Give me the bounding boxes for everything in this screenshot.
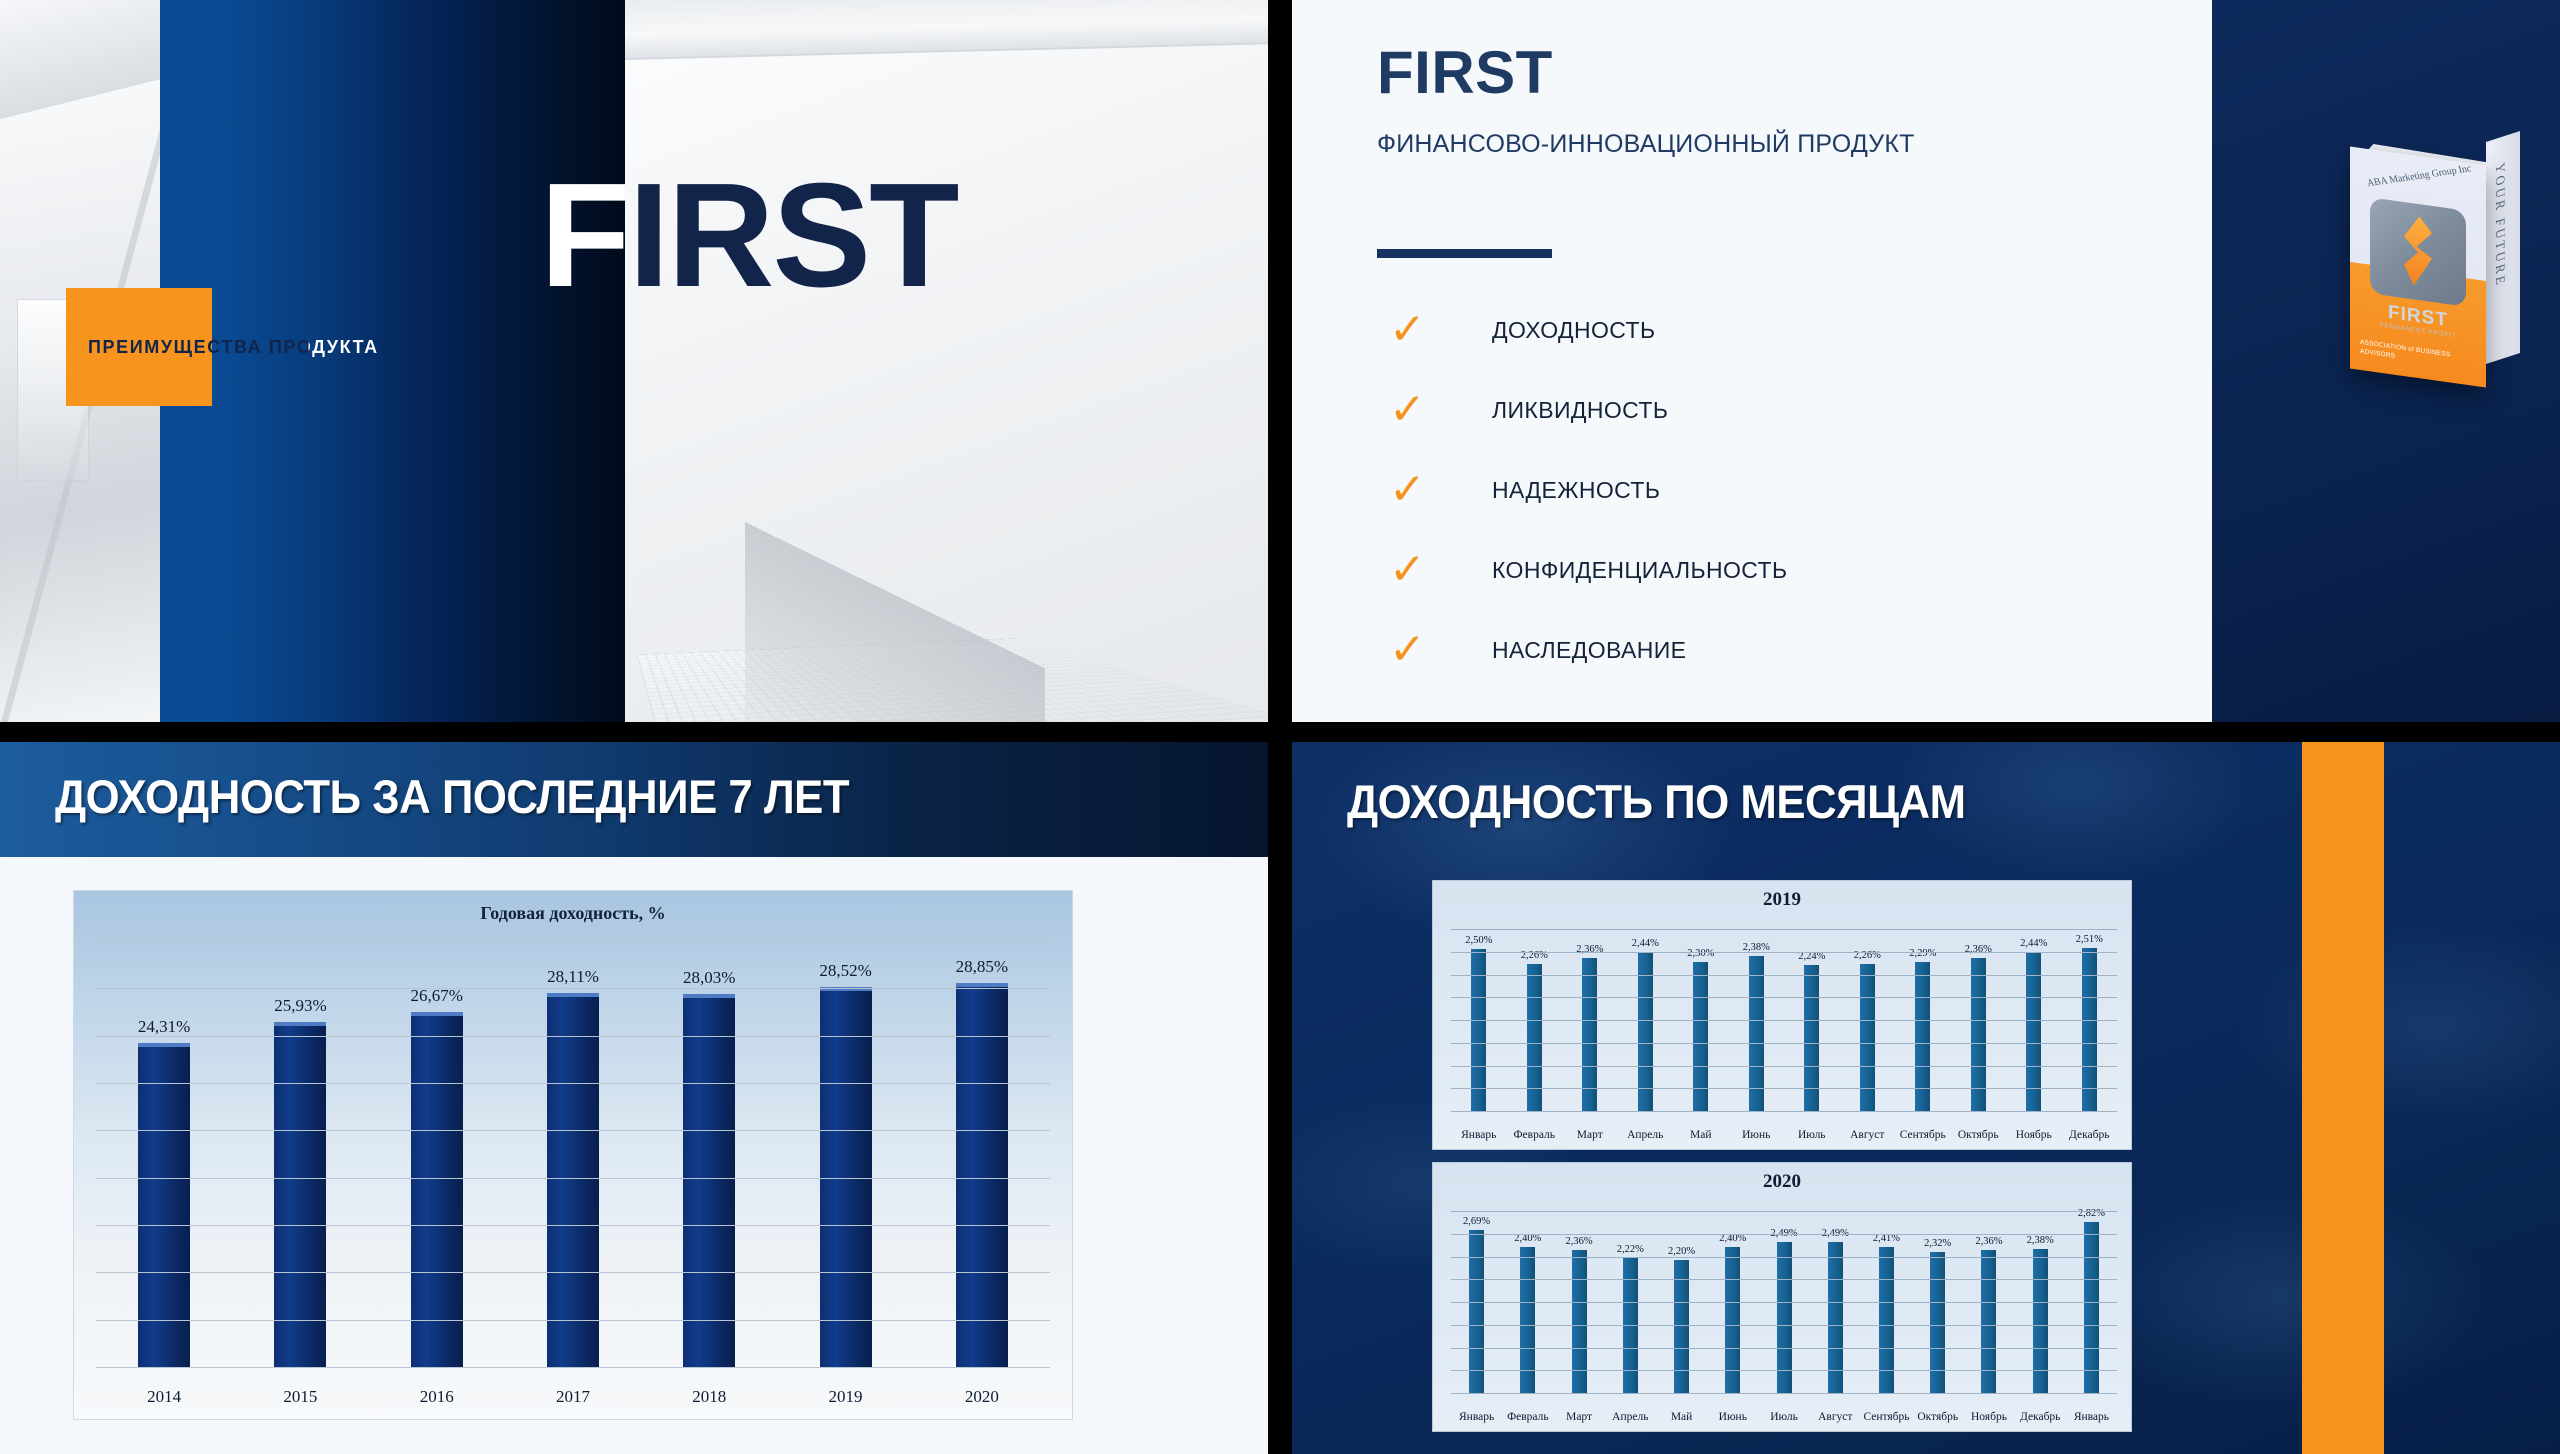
benefit-label: НАСЛЕДОВАНИЕ (1492, 637, 1686, 664)
bar-value-label: 2,24% (1798, 951, 1825, 962)
bar[interactable] (2033, 1249, 2048, 1393)
gridline (96, 1367, 1050, 1368)
bar-slot: 24,31% (96, 941, 232, 1367)
monthly-orange-stripe (2302, 742, 2384, 1454)
x-tick-label: 2020 (914, 1387, 1050, 1407)
x-tick-label: Май (1673, 1129, 1729, 1141)
bar[interactable] (1469, 1230, 1484, 1393)
x-tick-label: Апрель (1605, 1411, 1656, 1423)
gridline (96, 1178, 1050, 1179)
x-tick-label: Август (1810, 1411, 1861, 1423)
list-item: ✓ НАСЛЕДОВАНИЕ (1377, 610, 2137, 690)
gridline (96, 1130, 1050, 1131)
bar[interactable] (683, 994, 735, 1367)
monthly-2020-plot: 2,69%2,40%2,36%2,22%2,20%2,40%2,49%2,49%… (1451, 1211, 2117, 1393)
cover-photo-right (625, 0, 1268, 722)
bar-value-label: 2,40% (1719, 1233, 1746, 1244)
bolt-icon (2404, 214, 2432, 288)
x-tick-label: Февраль (1502, 1411, 1553, 1423)
bar[interactable] (956, 983, 1008, 1367)
bar-value-label: 2,51% (2076, 934, 2103, 945)
x-tick-label: Февраль (1507, 1129, 1563, 1141)
x-tick-label: Ноябрь (2006, 1129, 2062, 1141)
gridline (1451, 1279, 2117, 1280)
monthly-2020-x-axis: ЯнварьФевральМартАпрельМайИюньИюльАвгуст… (1451, 1411, 2117, 1423)
gridline (1451, 1257, 2117, 1258)
monthly-2019-x-axis: ЯнварьФевральМартАпрельМайИюньИюльАвгуст… (1451, 1129, 2117, 1141)
bar[interactable] (2082, 948, 2097, 1111)
list-item: ✓ ДОХОДНОСТЬ (1377, 290, 2137, 370)
monthly-2019-plot: 2,50%2,26%2,36%2,44%2,30%2,38%2,24%2,26%… (1451, 929, 2117, 1111)
gridline (1451, 1066, 2117, 1067)
bar-value-label: 2,36% (1975, 1236, 2002, 1247)
bar[interactable] (1930, 1252, 1945, 1393)
gridline (1451, 1325, 2117, 1326)
bar-value-label: 2,22% (1617, 1244, 1644, 1255)
x-tick-label: Октябрь (1951, 1129, 2007, 1141)
bar-value-label: 24,31% (138, 1017, 190, 1037)
gridline (96, 1272, 1050, 1273)
gridline (1451, 1234, 2117, 1235)
gridline (1451, 975, 2117, 976)
bar[interactable] (138, 1043, 190, 1367)
bar-value-label: 2,36% (1576, 944, 1603, 955)
x-tick-label: Сентябрь (1861, 1411, 1912, 1423)
check-icon: ✓ (1377, 308, 1492, 352)
bar-value-label: 28,52% (819, 961, 871, 981)
annual-chart-title: Годовая доходность, % (74, 891, 1072, 924)
benefits-list: ✓ ДОХОДНОСТЬ ✓ ЛИКВИДНОСТЬ ✓ НАДЕЖНОСТЬ … (1377, 290, 2137, 690)
cover-badge-label: ПРЕИМУЩЕСТВА ПРОДУКТА (88, 337, 508, 358)
x-tick-label: Март (1553, 1411, 1604, 1423)
x-tick-label: Июль (1784, 1129, 1840, 1141)
x-tick-label: Июль (1758, 1411, 1809, 1423)
gridline (1451, 929, 2117, 930)
monthly-2019-title: 2019 (1433, 881, 2131, 911)
gridline (1451, 1211, 2117, 1212)
bar[interactable] (1471, 949, 1486, 1112)
x-tick-label: Май (1656, 1411, 1707, 1423)
annual-x-axis: 2014201520162017201820192020 (96, 1387, 1050, 1407)
bar-value-label: 2,69% (1463, 1216, 1490, 1227)
bar-slot: 28,03% (641, 941, 777, 1367)
x-tick-label: 2018 (641, 1387, 777, 1407)
monthly-2020-title: 2020 (1433, 1163, 2131, 1193)
product-box-side-text: YOUR FUTURE (2492, 161, 2508, 290)
product-box-icon-tile (2370, 197, 2466, 306)
product-box-footer-1: ASSOCIATION of BUSINESS ADVISORS (2360, 338, 2480, 374)
list-item: ✓ КОНФИДЕНЦИАЛЬНОСТЬ (1377, 530, 2137, 610)
annual-plot-area: 24,31%25,93%26,67%28,11%28,03%28,52%28,8… (96, 941, 1050, 1367)
bar[interactable] (411, 1012, 463, 1367)
x-tick-label: 2019 (777, 1387, 913, 1407)
gridline (1451, 1020, 2117, 1021)
gridline (1451, 1111, 2117, 1112)
bar-value-label: 2,30% (1687, 948, 1714, 959)
bar-value-label: 2,44% (1632, 938, 1659, 949)
gridline (1451, 1370, 2117, 1371)
check-icon: ✓ (1377, 628, 1492, 672)
x-tick-label: Сентябрь (1895, 1129, 1951, 1141)
gridline (1451, 997, 2117, 998)
annual-chart-card: Годовая доходность, % 24,31%25,93%26,67%… (73, 890, 1073, 1420)
bar-value-label: 28,03% (683, 968, 735, 988)
cover-floor-strip (745, 522, 1045, 722)
annual-bars: 24,31%25,93%26,67%28,11%28,03%28,52%28,8… (96, 941, 1050, 1367)
overview-title: FIRST (1377, 38, 1553, 107)
bar[interactable] (2026, 952, 2041, 1111)
list-item: ✓ ЛИКВИДНОСТЬ (1377, 370, 2137, 450)
bar-value-label: 28,11% (547, 967, 599, 987)
bar-value-label: 2,40% (1514, 1233, 1541, 1244)
bar[interactable] (2084, 1222, 2099, 1393)
x-tick-label: Апрель (1618, 1129, 1674, 1141)
x-tick-label: Март (1562, 1129, 1618, 1141)
x-tick-label: Декабрь (2062, 1129, 2118, 1141)
x-tick-label: 2016 (369, 1387, 505, 1407)
benefit-label: НАДЕЖНОСТЬ (1492, 477, 1660, 504)
x-tick-label: Июнь (1707, 1411, 1758, 1423)
bar[interactable] (1638, 952, 1653, 1111)
x-tick-label: 2017 (505, 1387, 641, 1407)
bar-value-label: 25,93% (274, 996, 326, 1016)
slide-product-advantages-cover: ПРЕИМУЩЕСТВА ПРОДУКТА FIRST (0, 0, 1268, 722)
cover-hero-word: FIRST (540, 162, 958, 310)
gridline (1451, 1393, 2117, 1394)
bar[interactable] (274, 1022, 326, 1367)
bar[interactable] (547, 993, 599, 1367)
bar-value-label: 2,38% (2027, 1235, 2054, 1246)
check-icon: ✓ (1377, 388, 1492, 432)
bar-slot: 28,52% (777, 941, 913, 1367)
slide-deck: ПРЕИМУЩЕСТВА ПРОДУКТА FIRST FIRST ФИНАНС… (0, 0, 2560, 1454)
annual-title: ДОХОДНОСТЬ ЗА ПОСЛЕДНИЕ 7 ЛЕТ (55, 769, 849, 824)
bar-value-label: 2,29% (1909, 948, 1936, 959)
overview-divider (1377, 249, 1552, 258)
bar-slot: 26,67% (369, 941, 505, 1367)
bar-value-label: 2,32% (1924, 1238, 1951, 1249)
product-box-front: ABA Marketing Group Inc FIRST PERMANENT … (2350, 146, 2486, 387)
gridline (96, 941, 1050, 942)
bar-slot: 28,11% (505, 941, 641, 1367)
bar-value-label: 2,20% (1668, 1246, 1695, 1257)
bar-value-label: 2,50% (1465, 935, 1492, 946)
gridline (1451, 1088, 2117, 1089)
bar-value-label: 2,82% (2078, 1208, 2105, 1219)
gridline (1451, 1302, 2117, 1303)
bar-value-label: 28,85% (956, 957, 1008, 977)
gridline (1451, 1043, 2117, 1044)
benefit-label: ЛИКВИДНОСТЬ (1492, 397, 1668, 424)
bar-value-label: 2,36% (1965, 944, 1992, 955)
check-icon: ✓ (1377, 548, 1492, 592)
slide-first-product-overview: FIRST ФИНАНСОВО-ИННОВАЦИОННЫЙ ПРОДУКТ ✓ … (1292, 0, 2560, 722)
bar-slot: 28,85% (914, 941, 1050, 1367)
overview-subtitle: ФИНАНСОВО-ИННОВАЦИОННЫЙ ПРОДУКТ (1377, 128, 1937, 162)
x-tick-label: Август (1840, 1129, 1896, 1141)
bar[interactable] (1572, 1250, 1587, 1393)
x-tick-label: Январь (2066, 1411, 2117, 1423)
gridline (96, 1083, 1050, 1084)
x-tick-label: Июнь (1729, 1129, 1785, 1141)
bar-value-label: 2,36% (1566, 1236, 1593, 1247)
monthly-2020-card: 2020 2,69%2,40%2,36%2,22%2,20%2,40%2,49%… (1432, 1162, 2132, 1432)
gridline (96, 1225, 1050, 1226)
x-tick-label: Октябрь (1912, 1411, 1963, 1423)
bar-slot: 25,93% (232, 941, 368, 1367)
monthly-title: ДОХОДНОСТЬ ПО МЕСЯЦАМ (1347, 774, 1966, 829)
product-box-image: YOUR FUTURE ABA Marketing Group Inc FIRS… (2342, 140, 2542, 380)
benefit-label: КОНФИДЕНЦИАЛЬНОСТЬ (1492, 557, 1787, 584)
gridline (96, 988, 1050, 989)
cover-ceiling (625, 0, 1268, 60)
gridline (1451, 952, 2117, 953)
x-tick-label: 2015 (232, 1387, 368, 1407)
monthly-2019-card: 2019 2,50%2,26%2,36%2,44%2,30%2,38%2,24%… (1432, 880, 2132, 1150)
list-item: ✓ НАДЕЖНОСТЬ (1377, 450, 2137, 530)
x-tick-label: 2014 (96, 1387, 232, 1407)
x-tick-label: Декабрь (2015, 1411, 2066, 1423)
gridline (96, 1036, 1050, 1037)
slide-annual-returns: ДОХОДНОСТЬ ЗА ПОСЛЕДНИЕ 7 ЛЕТ Годовая до… (0, 742, 1268, 1454)
x-tick-label: Ноябрь (1963, 1411, 2014, 1423)
gridline (1451, 1348, 2117, 1349)
benefit-label: ДОХОДНОСТЬ (1492, 317, 1655, 344)
bar-value-label: 2,44% (2020, 938, 2047, 949)
x-tick-label: Январь (1451, 1411, 1502, 1423)
gridline (96, 1320, 1050, 1321)
slide-monthly-returns: ДОХОДНОСТЬ ПО МЕСЯЦАМ 2019 2,50%2,26%2,3… (1292, 742, 2560, 1454)
x-tick-label: Январь (1451, 1129, 1507, 1141)
cover-blue-dark (310, 0, 625, 722)
check-icon: ✓ (1377, 468, 1492, 512)
bar[interactable] (1981, 1250, 1996, 1393)
